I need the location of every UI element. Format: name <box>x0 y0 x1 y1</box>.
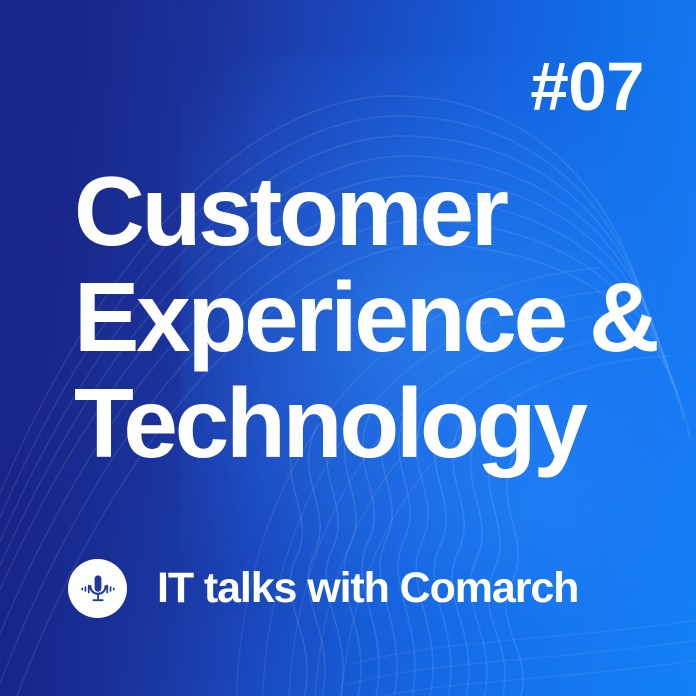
title-line-2: Experience & <box>74 264 674 370</box>
cover-content: #07 Customer Experience & Technology <box>0 0 696 696</box>
brand-mark-circle <box>68 559 127 618</box>
title-line-3: Technology <box>74 370 674 476</box>
microphone-icon <box>77 568 119 610</box>
episode-number-badge: #07 <box>530 52 644 121</box>
brand-lockup: IT talks with Comarch <box>68 559 578 618</box>
brand-name: IT talks with Comarch <box>157 567 578 610</box>
title-line-1: Customer <box>74 158 674 264</box>
podcast-cover: #07 Customer Experience & Technology <box>0 0 696 696</box>
cover-title: Customer Experience & Technology <box>74 158 674 476</box>
